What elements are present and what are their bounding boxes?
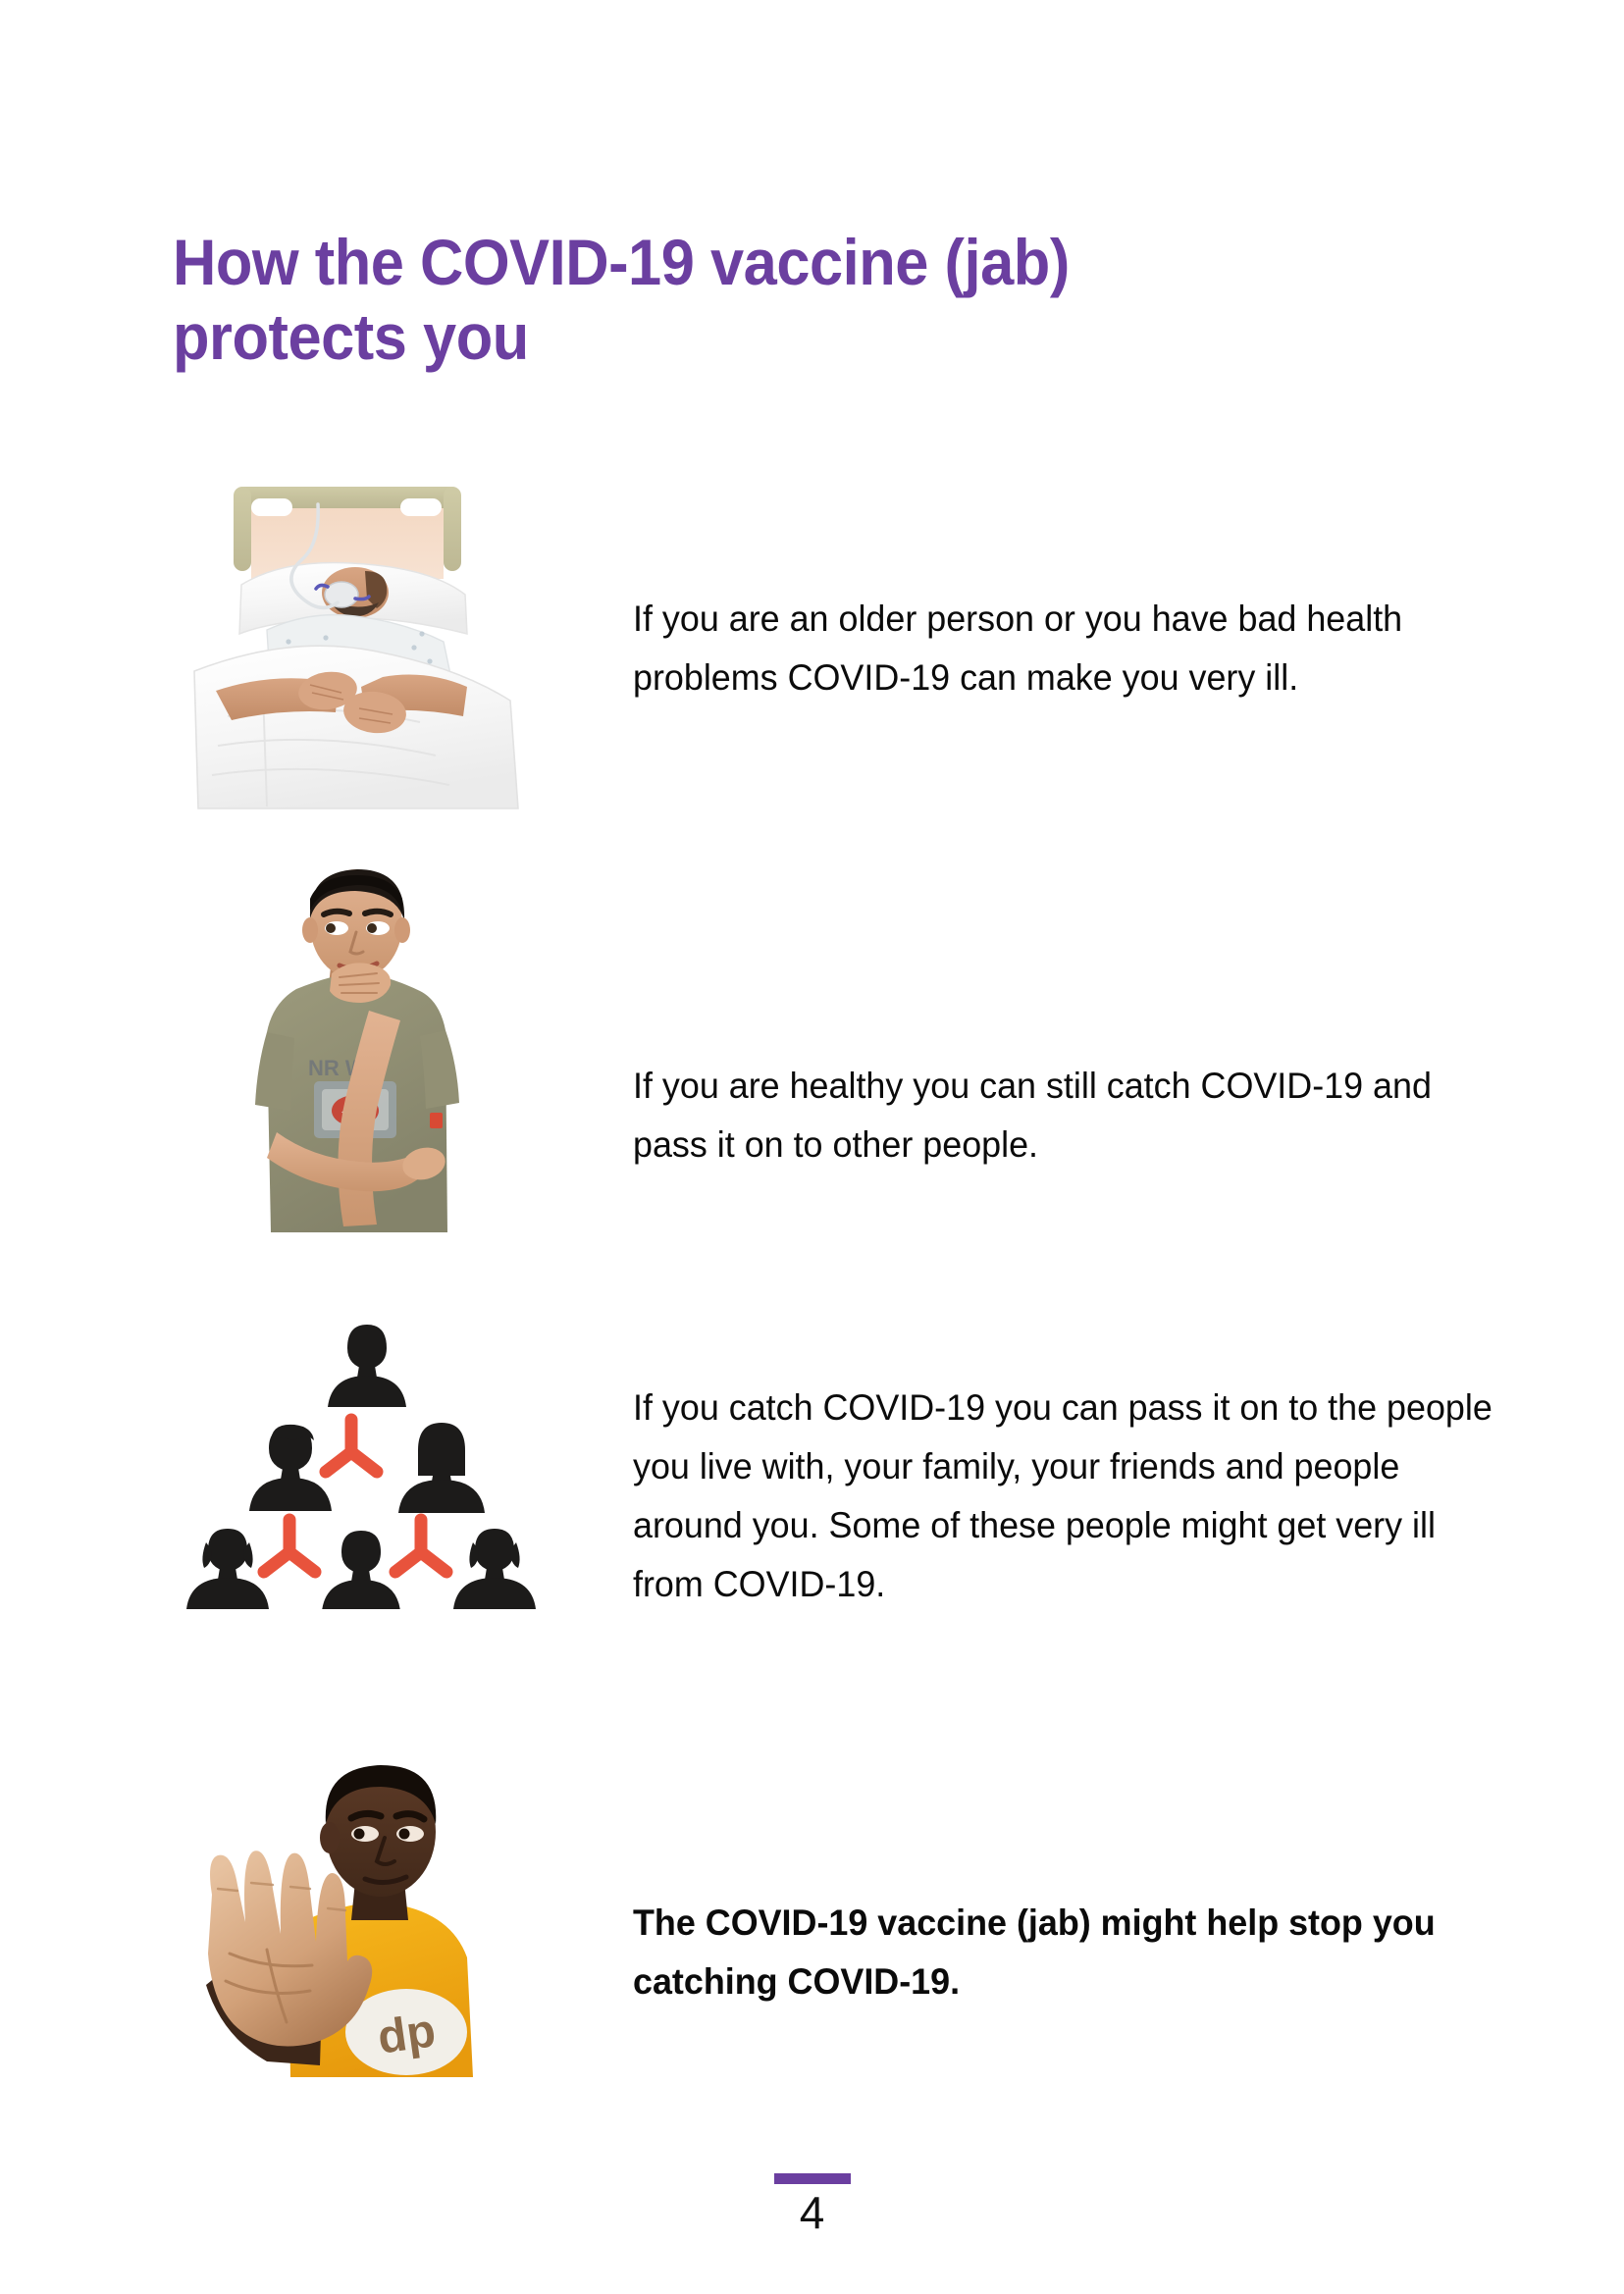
stop-hand-icon: dp — [173, 1742, 487, 2080]
people-network-icon — [181, 1315, 553, 1609]
page-footer: 4 — [0, 2173, 1624, 2235]
people-transmission-diagram — [181, 1315, 553, 1609]
section-text-vaccine-stop: The COVID-19 vaccine (jab) might help st… — [633, 1894, 1504, 2011]
section-text-older-person: If you are an older person or you have b… — [633, 590, 1504, 707]
stop-hand-photo: dp — [173, 1742, 487, 2080]
hospital-bed-photo — [173, 469, 526, 824]
thinking-man-photo: NR W — [237, 863, 475, 1246]
footer-rule — [774, 2173, 851, 2184]
page-title: How the COVID-19 vaccine (jab) protects … — [173, 226, 1323, 375]
section-text-healthy-catch: If you are healthy you can still catch C… — [633, 1057, 1504, 1174]
content-row-vaccine-stop: dp — [0, 1742, 1624, 2095]
illustration-people-transmission — [173, 1315, 553, 1609]
shirt-logo-text: dp — [375, 2005, 439, 2064]
content-row-passing-on: If you catch COVID-19 you can pass it on… — [0, 1315, 1624, 1624]
illustration-hospital-bed-patient — [173, 469, 526, 824]
content-row-older-person: If you are an older person or you have b… — [0, 469, 1624, 832]
page-canvas: How the COVID-19 vaccine (jab) protects … — [0, 0, 1624, 2294]
page-number: 4 — [0, 2190, 1624, 2235]
content-row-healthy-catch: NR W — [0, 863, 1624, 1251]
illustration-stop-hand-man: dp — [173, 1742, 487, 2080]
thinking-person-icon: NR W — [237, 863, 475, 1246]
hospital-bed-icon — [173, 469, 526, 824]
section-text-passing-on: If you catch COVID-19 you can pass it on… — [633, 1379, 1504, 1614]
illustration-thinking-man: NR W — [173, 863, 475, 1246]
